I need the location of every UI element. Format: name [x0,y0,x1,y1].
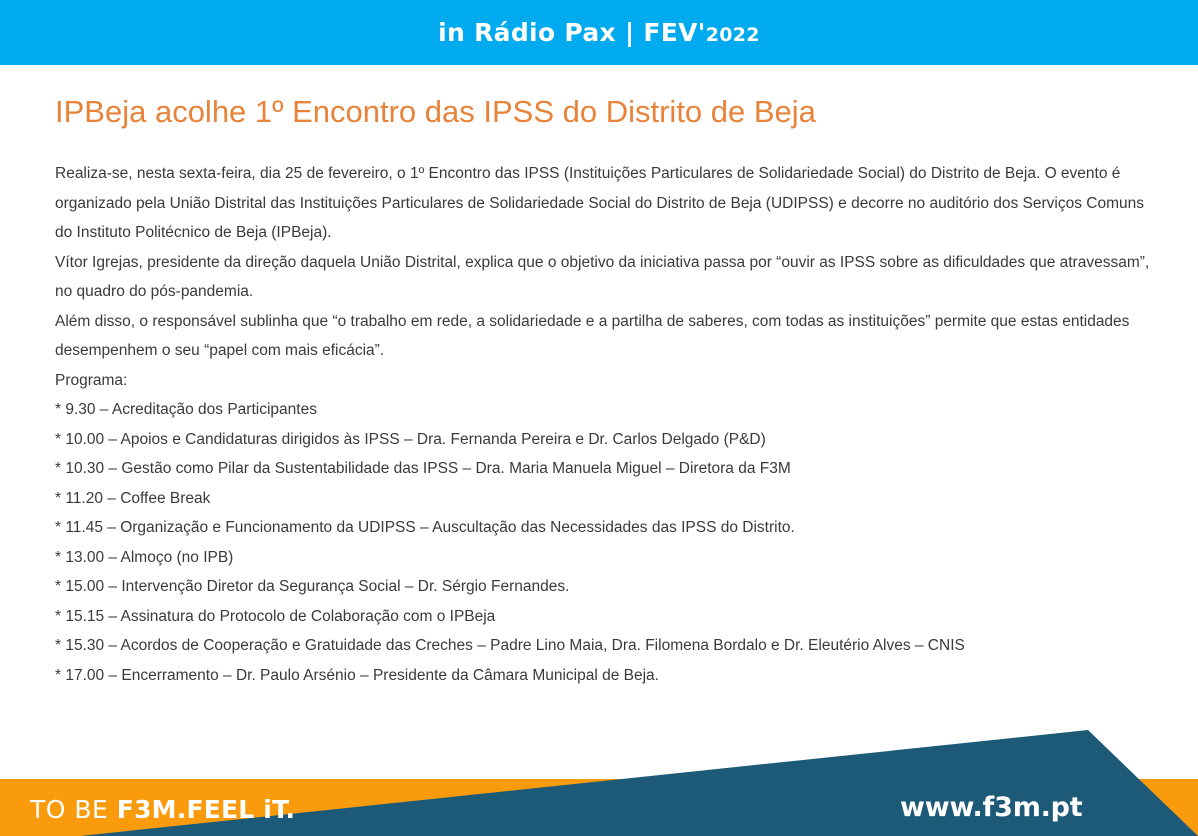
list-item: * 13.00 – Almoço (no IPB) [55,543,1160,573]
list-item: * 11.20 – Coffee Break [55,484,1160,514]
footer-tagline-light: TO BE [30,795,117,824]
article-body: Realiza-se, nesta sexta-feira, dia 25 de… [55,159,1160,690]
header-bar: in Rádio Pax | FEV'2022 [0,0,1198,65]
list-item: * 15.15 – Assinatura do Protocolo de Col… [55,602,1160,632]
program-label: Programa: [55,366,1160,396]
paragraph-1: Realiza-se, nesta sexta-feira, dia 25 de… [55,159,1160,248]
list-item: * 15.00 – Intervenção Diretor da Seguran… [55,572,1160,602]
list-item: * 10.00 – Apoios e Candidaturas dirigido… [55,425,1160,455]
program-list: * 9.30 – Acreditação dos Participantes *… [55,395,1160,690]
list-item: * 9.30 – Acreditação dos Participantes [55,395,1160,425]
footer-tagline: TO BE F3M.FEEL iT. [30,795,295,824]
header-title-year: 2022 [706,24,760,46]
page-title: IPBeja acolhe 1º Encontro das IPSS do Di… [55,93,1160,131]
list-item: * 17.00 – Encerramento – Dr. Paulo Arsén… [55,661,1160,691]
list-item: * 15.30 – Acordos de Cooperação e Gratui… [55,631,1160,661]
footer-website-url[interactable]: www.f3m.pt [900,792,1083,823]
paragraph-3: Além disso, o responsável sublinha que “… [55,307,1160,366]
header-title-main: in Rádio Pax | FEV' [438,18,706,47]
footer-tagline-bold: F3M.FEEL iT. [117,795,295,824]
article-container: IPBeja acolhe 1º Encontro das IPSS do Di… [55,93,1160,690]
list-item: * 10.30 – Gestão como Pilar da Sustentab… [55,454,1160,484]
paragraph-2: Vítor Igrejas, presidente da direção daq… [55,248,1160,307]
header-title: in Rádio Pax | FEV'2022 [438,18,760,47]
list-item: * 11.45 – Organização e Funcionamento da… [55,513,1160,543]
